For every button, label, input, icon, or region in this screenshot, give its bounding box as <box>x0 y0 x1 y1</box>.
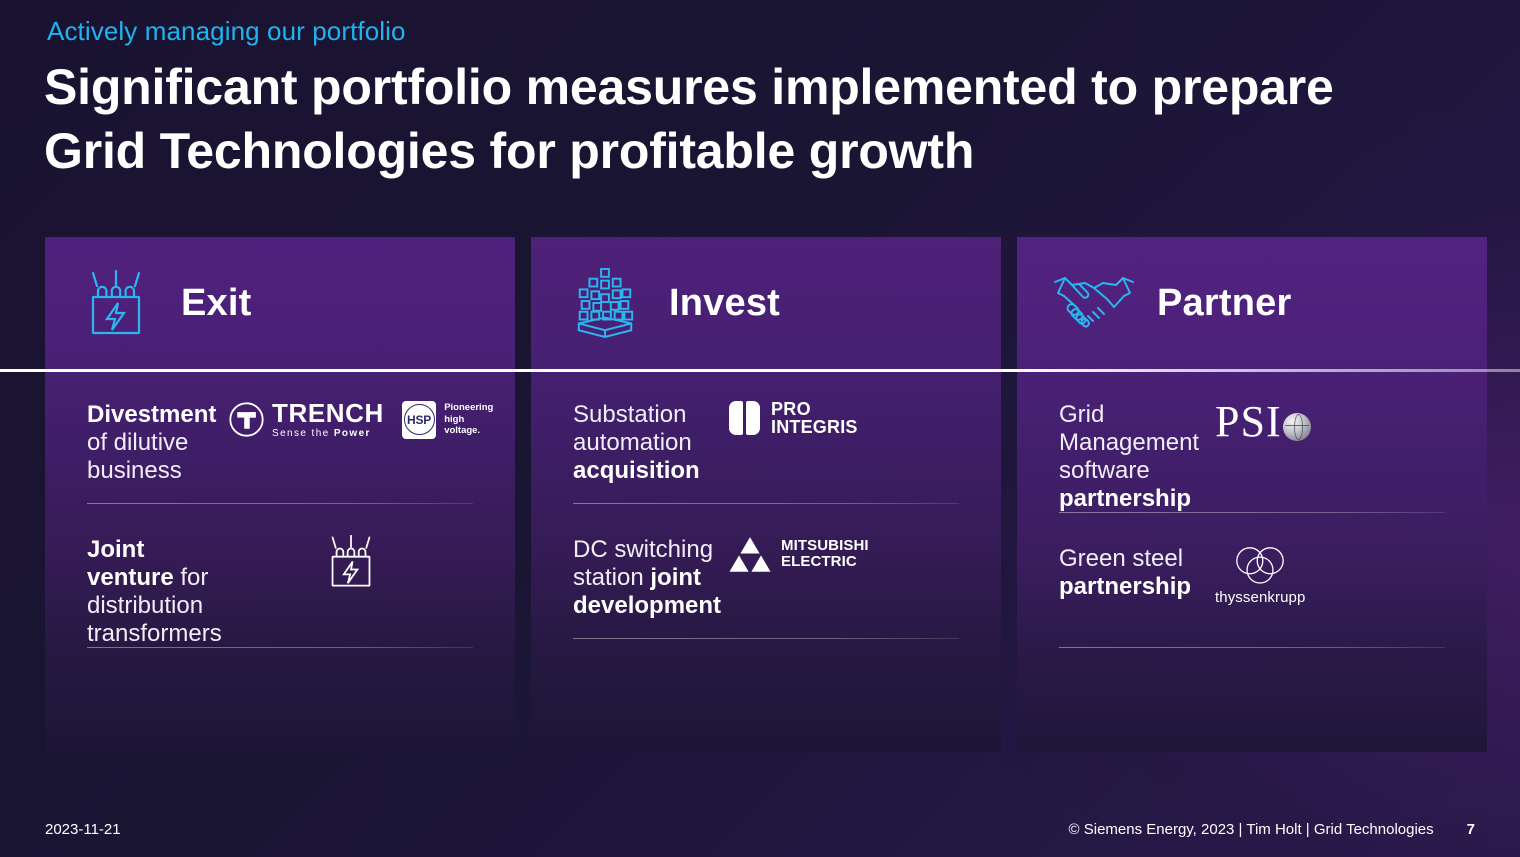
measure-row: Joint venture for distribution transform… <box>87 504 473 648</box>
thyssenkrupp-brand: thyssenkrupp <box>1215 589 1305 606</box>
trench-brand: TRENCH <box>272 400 384 426</box>
digital-blocks-icon <box>565 265 645 341</box>
card-invest: Invest Substation automation acquisition… <box>531 237 1001 752</box>
card-title-exit: Exit <box>181 282 252 325</box>
footer-date: 2023-11-21 <box>45 821 121 838</box>
measure-row: Grid Management software partnership PSI <box>1059 369 1445 513</box>
thyssenkrupp-circles-icon <box>1235 544 1285 585</box>
card-body-partner: Grid Management software partnership PSI… <box>1017 369 1487 648</box>
footer-page-number: 7 <box>1467 821 1475 838</box>
measure-text-bold: acquisition <box>573 457 700 484</box>
handshake-icon <box>1051 265 1137 341</box>
measure-row: Green steel partnership thyssenkrupp <box>1059 513 1445 648</box>
trench-mark-icon <box>228 401 265 438</box>
pro-integris-logo: PRO INTEGRIS <box>729 400 858 437</box>
mitsubishi-line2: ELECTRIC <box>781 554 869 569</box>
slide: Actively managing our portfolio Signific… <box>0 0 1520 857</box>
pro-integris-line2: INTEGRIS <box>771 418 858 436</box>
measure-row: Divestment of dilutive business TRENCH <box>87 369 473 504</box>
hsp-mark-icon: HSP <box>402 401 436 439</box>
measure-text-bold: partnership <box>1059 573 1191 600</box>
transformer-icon <box>79 265 153 341</box>
measure-row: DC switching station joint development M… <box>573 504 959 639</box>
row-logos: thyssenkrupp <box>1215 542 1445 606</box>
trench-tagline-plain: Sense the <box>272 428 334 439</box>
card-header-partner: Partner <box>1017 237 1487 369</box>
measure-text-rest: Green steel <box>1059 545 1183 572</box>
card-partner: Partner Grid Management software partner… <box>1017 237 1487 752</box>
measure-text-bold: partnership <box>1059 485 1191 512</box>
row-logos: MITSUBISHI ELECTRIC <box>729 533 959 572</box>
measure-text: Substation automation acquisition <box>573 398 729 485</box>
cards-container: Exit Divestment of dilutive business <box>45 237 1487 752</box>
mitsubishi-line1: MITSUBISHI <box>781 538 869 553</box>
measure-text-rest: of dilutive business <box>87 429 188 484</box>
psi-brand: PSI <box>1215 400 1282 444</box>
card-title-partner: Partner <box>1157 282 1291 325</box>
thyssenkrupp-logo: thyssenkrupp <box>1215 544 1305 606</box>
card-header-invest: Invest <box>531 237 1001 369</box>
trench-wordmark: TRENCH Sense the Power <box>272 400 384 439</box>
mitsubishi-wordmark: MITSUBISHI ELECTRIC <box>781 538 869 569</box>
card-header-exit: Exit <box>45 237 515 369</box>
hsp-tagline: Pioneering high voltage. <box>444 402 497 438</box>
pro-integris-mark-icon <box>729 401 760 435</box>
pro-integris-wordmark: PRO INTEGRIS <box>771 400 858 437</box>
measure-text: Joint venture for distribution transform… <box>87 533 228 648</box>
mitsubishi-electric-logo: MITSUBISHI ELECTRIC <box>729 535 869 572</box>
trench-tagline: Sense the Power <box>272 429 384 439</box>
measure-text: Divestment of dilutive business <box>87 398 228 485</box>
eyebrow-text: Actively managing our portfolio <box>47 16 406 47</box>
measure-text: DC switching station joint development <box>573 533 729 620</box>
measure-text: Grid Management software partnership <box>1059 398 1215 513</box>
page-title: Significant portfolio measures implement… <box>44 56 1344 183</box>
row-logos <box>228 533 473 593</box>
measure-text-bold: Divestment <box>87 401 216 428</box>
transformer-icon-white <box>326 535 376 593</box>
hsp-logo: HSP Pioneering high voltage. <box>402 401 497 439</box>
header-divider <box>0 369 1520 372</box>
row-logos: TRENCH Sense the Power HSP Pioneering hi… <box>228 398 473 439</box>
measure-row: Substation automation acquisition PRO IN… <box>573 369 959 504</box>
row-logos: PSI <box>1215 398 1445 444</box>
hsp-brand: HSP <box>404 404 435 435</box>
psi-globe-icon <box>1283 413 1311 441</box>
psi-logo: PSI <box>1215 400 1311 444</box>
footer-right: © Siemens Energy, 2023 | Tim Holt | Grid… <box>1069 821 1475 838</box>
card-body-exit: Divestment of dilutive business TRENCH <box>45 369 515 648</box>
hsp-tagline-line2: high voltage. <box>444 414 480 437</box>
measure-text-bold: Joint venture <box>87 536 174 591</box>
measure-text-rest: Substation automation <box>573 401 692 456</box>
measure-text-rest: Grid Management software <box>1059 401 1199 484</box>
card-exit: Exit Divestment of dilutive business <box>45 237 515 752</box>
row-logos: PRO INTEGRIS <box>729 398 959 437</box>
pro-integris-line1: PRO <box>771 400 858 418</box>
measure-text: Green steel partnership <box>1059 542 1215 601</box>
footer-copyright: © Siemens Energy, 2023 | Tim Holt | Grid… <box>1069 821 1434 838</box>
trench-logo: TRENCH Sense the Power <box>228 400 384 439</box>
trench-tagline-bold: Power <box>334 428 371 439</box>
hsp-tagline-line1: Pioneering <box>444 402 493 413</box>
card-title-invest: Invest <box>669 282 780 325</box>
card-body-invest: Substation automation acquisition PRO IN… <box>531 369 1001 639</box>
mitsubishi-diamonds-icon <box>729 535 771 572</box>
